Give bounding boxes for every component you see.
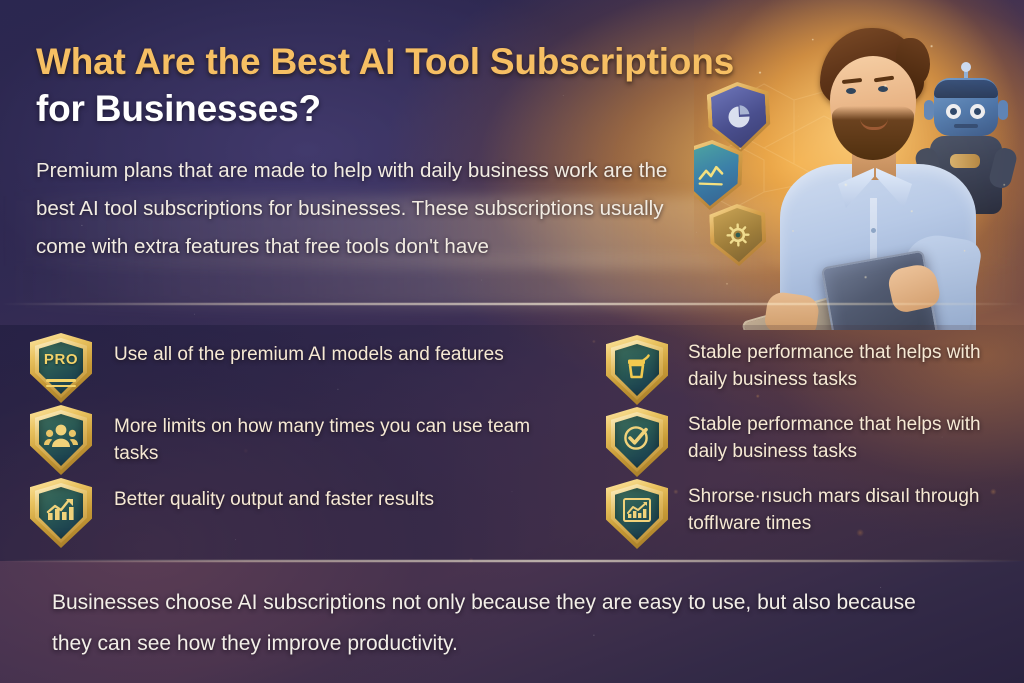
page-title-line-2: for Businesses? — [36, 85, 776, 132]
pro-badge-shield-icon: PRO — [30, 333, 92, 403]
divider-top — [0, 303, 1024, 305]
framed-growth-chart-shield-icon — [606, 479, 668, 549]
container-shield-icon — [606, 335, 668, 405]
framed-bar-chart-icon — [621, 496, 653, 525]
page-title: What Are the Best AI Tool Subscriptions … — [36, 38, 776, 132]
benefit-item: Stable performance that helps with daily… — [606, 335, 1006, 405]
checkmark-circle-icon — [621, 423, 653, 453]
benefit-item: More limits on how many times you can us… — [30, 405, 560, 475]
benefit-text: Stable performance that helps with daily… — [688, 335, 1006, 393]
bar-chart-growth-icon — [45, 495, 77, 523]
page-title-line-1: What Are the Best AI Tool Subscriptions — [36, 38, 776, 85]
benefit-item: Better quality output and faster results — [30, 478, 560, 548]
benefits-columns: PRO Use all of the premium AI models and… — [0, 333, 1024, 557]
benefit-text: Shrorse·rısuch mars disaıl through toffI… — [688, 479, 1006, 537]
benefit-text: More limits on how many times you can us… — [114, 405, 560, 467]
footer-text: Businesses choose AI subscriptions not o… — [52, 582, 952, 664]
benefit-text: Stable performance that helps with daily… — [688, 407, 1006, 465]
divider-bottom — [0, 560, 1024, 562]
infographic-canvas: What Are the Best AI Tool Subscriptions … — [0, 0, 1024, 683]
benefit-text: Better quality output and faster results — [114, 478, 434, 513]
growth-chart-shield-icon — [30, 478, 92, 548]
benefit-item: Shrorse·rısuch mars disaıl through toffI… — [606, 479, 1006, 549]
benefit-item: Stable performance that helps with daily… — [606, 407, 1006, 477]
intro-paragraph: Premium plans that are made to help with… — [36, 152, 696, 266]
benefit-item: PRO Use all of the premium AI models and… — [30, 333, 590, 403]
check-circle-shield-icon — [606, 407, 668, 477]
benefit-text: Use all of the premium AI models and fea… — [114, 333, 504, 368]
team-people-shield-icon — [30, 405, 92, 475]
people-group-icon — [44, 422, 78, 450]
storage-container-icon — [622, 352, 652, 380]
